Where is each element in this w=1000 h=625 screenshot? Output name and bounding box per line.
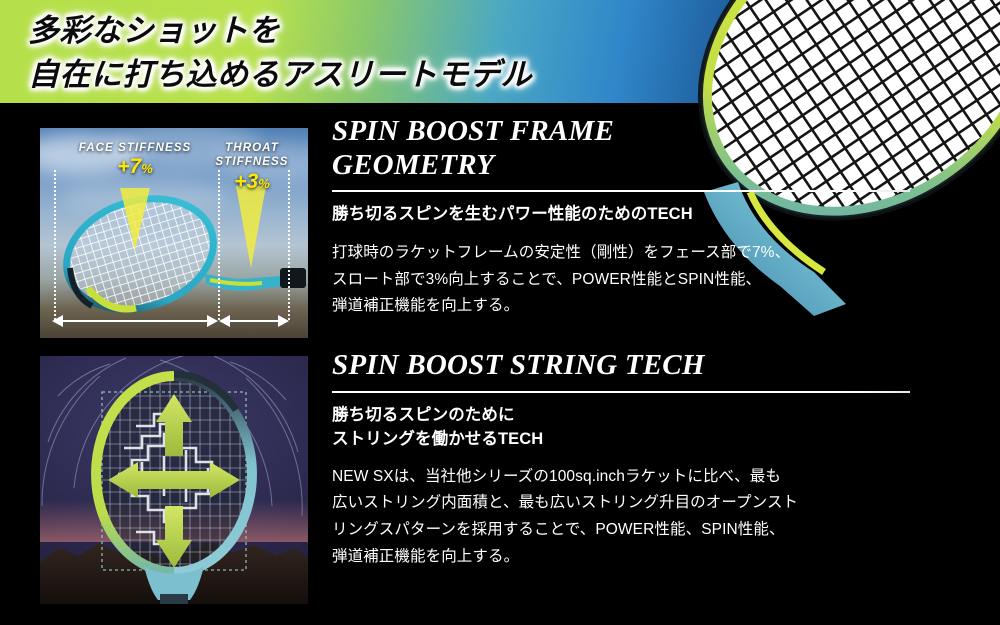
face-span-arrow-head-left [52, 315, 63, 327]
throat-span-arrow [226, 320, 282, 322]
face-stiffness-text: FACE STIFFNESS [79, 142, 192, 154]
throat-stiffness-value: +3% [192, 170, 308, 194]
section-body: NEW SXは、当社他シリーズの100sq.inchラケットに比べ、最も 広いス… [332, 464, 910, 571]
section-title: SPIN BOOST FRAME GEOMETRY [332, 115, 910, 182]
frame-geometry-photo: FACE STIFFNESS +7% THROAT STIFFNESS +3% [40, 128, 308, 338]
section-divider [332, 190, 910, 192]
measure-guide-left [54, 170, 56, 320]
racket-string-bed-illustration [40, 356, 308, 604]
section-subtitle: 勝ち切るスピンを生むパワー性能のためのTECH [332, 203, 910, 227]
header-banner: 多彩なショットを 自在に打ち込めるアスリートモデル [0, 0, 1000, 103]
section-frame-geometry: SPIN BOOST FRAME GEOMETRY 勝ち切るスピンを生むパワー性… [332, 115, 910, 320]
page-title: 多彩なショットを 自在に打ち込めるアスリートモデル [28, 9, 532, 97]
throat-pointer-cone [236, 186, 266, 268]
section-body: 打球時のラケットフレームの安定性（剛性）をフェース部で7%、 スロート部で3%向… [332, 240, 910, 320]
face-pointer-cone [120, 188, 150, 250]
face-span-arrow-head-right [207, 315, 218, 327]
throat-stiffness-text: THROAT STIFFNESS [215, 142, 288, 168]
face-stiffness-label: FACE STIFFNESS +7% [75, 141, 195, 180]
section-divider [332, 391, 910, 393]
face-stiffness-value: +7% [75, 155, 195, 179]
throat-span-arrow-head-left [219, 315, 230, 327]
face-span-arrow [60, 320, 212, 322]
throat-span-arrow-head-right [278, 315, 289, 327]
content-column: SPIN BOOST FRAME GEOMETRY 勝ち切るスピンを生むパワー性… [332, 115, 910, 570]
throat-stiffness-label: THROAT STIFFNESS +3% [192, 141, 308, 194]
section-string-tech: SPIN BOOST STRING TECH 勝ち切るスピンのために ストリング… [332, 349, 910, 570]
section-title: SPIN BOOST STRING TECH [332, 349, 910, 383]
string-tech-photo [40, 356, 308, 604]
section-subtitle: 勝ち切るスピンのために ストリングを働かせるTECH [332, 404, 910, 452]
